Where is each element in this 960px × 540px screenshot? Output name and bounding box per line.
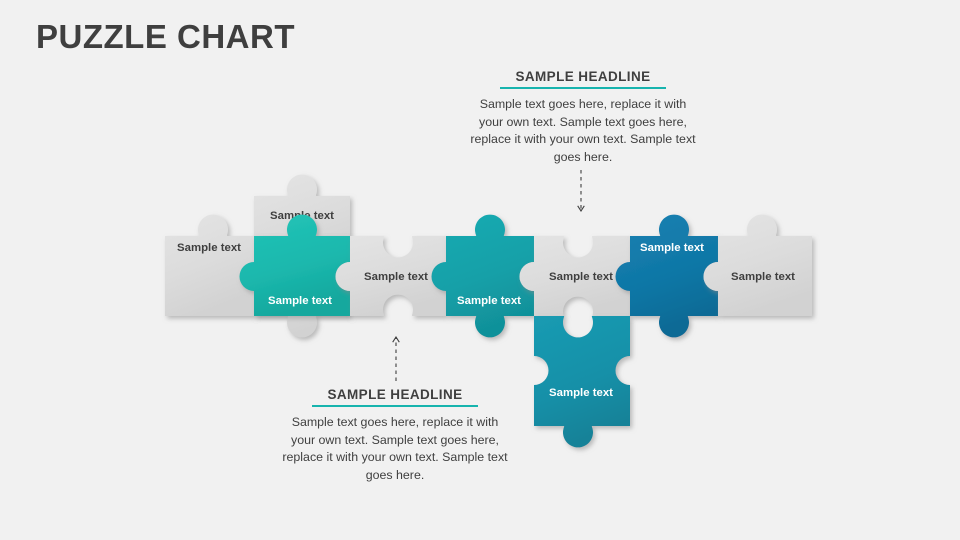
- callout-bottom-rule: [312, 405, 478, 407]
- puzzle-piece-row-6-blue[interactable]: Sample text: [616, 215, 719, 338]
- puzzle-piece-label: Sample text: [549, 387, 613, 399]
- puzzle-piece-label: Sample text: [549, 271, 613, 283]
- callout-bottom-headline: SAMPLE HEADLINE: [327, 387, 462, 405]
- callout-top-headline: SAMPLE HEADLINE: [515, 69, 650, 87]
- callout-bottom-body: Sample text goes here, replace it with y…: [282, 414, 508, 484]
- puzzle-piece-label: Sample text: [364, 271, 428, 283]
- callout-top: SAMPLE HEADLINE Sample text goes here, r…: [470, 68, 696, 166]
- puzzle-piece-label: Sample text: [640, 242, 704, 254]
- puzzle-piece-label: Sample text: [268, 295, 332, 307]
- puzzle-piece-row-1-gray[interactable]: Sample text: [165, 215, 254, 316]
- puzzle-piece-row-5-gray[interactable]: Sample text: [520, 236, 631, 317]
- puzzle-piece-bottom-teal[interactable]: Sample text: [534, 316, 630, 447]
- slide-canvas: PUZZLE CHART: [0, 0, 960, 540]
- puzzle-piece-row-7-gray[interactable]: Sample text: [704, 215, 813, 316]
- puzzle-piece-row-4-teal[interactable]: Sample text: [432, 215, 535, 338]
- callout-top-rule: [500, 87, 666, 89]
- callout-bottom: SAMPLE HEADLINE Sample text goes here, r…: [282, 386, 508, 484]
- callout-top-body: Sample text goes here, replace it with y…: [470, 96, 696, 166]
- puzzle-piece-label: Sample text: [457, 295, 521, 307]
- puzzle-piece-label: Sample text: [731, 271, 795, 283]
- puzzle-piece-row-3-gray[interactable]: Sample text: [336, 236, 447, 316]
- puzzle-piece-label: Sample text: [177, 242, 241, 254]
